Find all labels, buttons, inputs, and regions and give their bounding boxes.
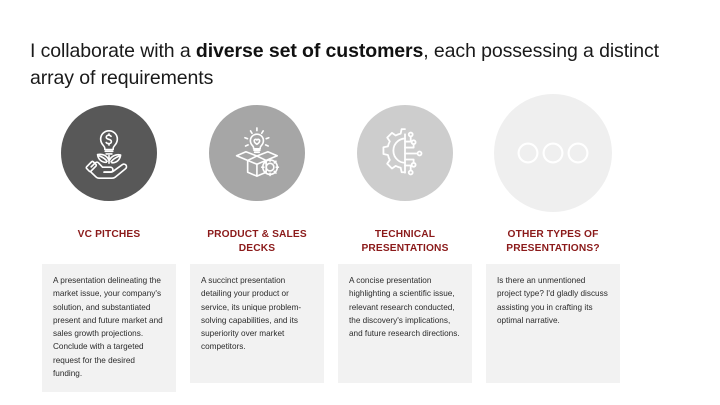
icon-circle-2	[209, 105, 305, 201]
icon-circle-wrap-2	[190, 92, 324, 214]
column-body-vc-pitches: A presentation delineating the market is…	[53, 274, 165, 380]
gear-circuit-icon	[375, 123, 435, 183]
icon-circle-wrap-1	[42, 92, 176, 214]
icon-circle-1	[61, 105, 157, 201]
column-product-sales-decks[interactable]: PRODUCT & SALES DECKS A succinct present…	[190, 92, 324, 392]
ellipsis-three-circles-icon	[516, 141, 590, 165]
column-vc-pitches[interactable]: VC PITCHES A presentation delineating th…	[42, 92, 176, 392]
hand-plant-lightbulb-dollar-icon	[80, 124, 138, 182]
box-lightbulb-gear-icon	[228, 124, 286, 182]
column-title-other-types: OTHER TYPES OF PRESENTATIONS?	[486, 228, 620, 258]
icon-circle-3	[357, 105, 453, 201]
page-title: I collaborate with a diverse set of cust…	[30, 38, 695, 92]
column-card-other-types: Is there an unmentioned project type? I'…	[486, 264, 620, 383]
columns-container: VC PITCHES A presentation delineating th…	[42, 92, 632, 392]
column-card-vc-pitches: A presentation delineating the market is…	[42, 264, 176, 392]
column-card-product-sales-decks: A succinct presentation detailing your p…	[190, 264, 324, 383]
column-title-technical-presentations: TECHNICAL PRESENTATIONS	[338, 228, 472, 258]
headline-emphasis: diverse set of customers	[196, 40, 423, 62]
icon-circle-4	[494, 94, 612, 212]
slide-canvas: I collaborate with a diverse set of cust…	[0, 0, 720, 405]
column-body-other-types: Is there an unmentioned project type? I'…	[497, 274, 609, 327]
headline-part-1: I collaborate with a	[30, 40, 196, 62]
column-body-technical-presentations: A concise presentation highlighting a sc…	[349, 274, 461, 340]
column-technical-presentations[interactable]: TECHNICAL PRESENTATIONS A concise presen…	[338, 92, 472, 392]
column-card-technical-presentations: A concise presentation highlighting a sc…	[338, 264, 472, 383]
column-body-product-sales-decks: A succinct presentation detailing your p…	[201, 274, 313, 354]
icon-circle-wrap-4	[486, 92, 620, 214]
column-other-types[interactable]: OTHER TYPES OF PRESENTATIONS? Is there a…	[486, 92, 620, 392]
column-title-product-sales-decks: PRODUCT & SALES DECKS	[190, 228, 324, 258]
icon-circle-wrap-3	[338, 92, 472, 214]
column-title-vc-pitches: VC PITCHES	[78, 228, 141, 258]
